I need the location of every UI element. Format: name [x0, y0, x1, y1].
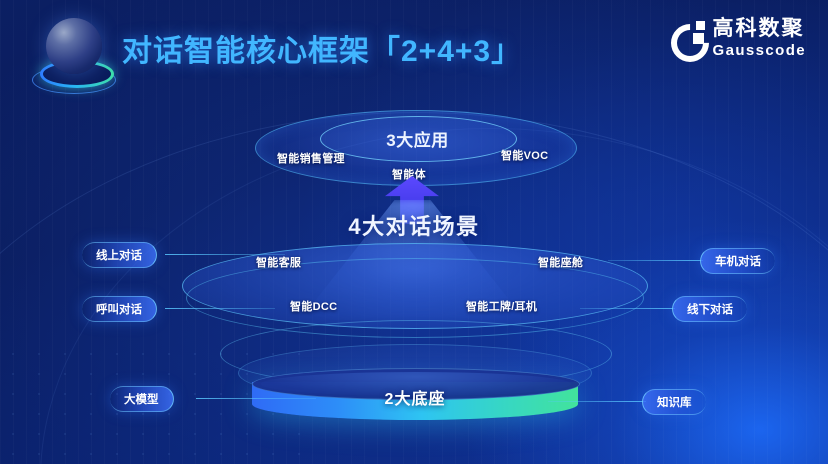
orb-ball-icon [46, 18, 102, 74]
gausscode-mark-icon [671, 21, 705, 55]
connector-online-dialog [165, 254, 285, 255]
foundation-cylinder: 2大底座 [252, 368, 578, 434]
pill-offline-dialog[interactable]: 线下对话 [672, 296, 747, 322]
brand-logo: 高科数聚 Gausscode [671, 18, 806, 58]
scenario-label-customer-service: 智能客服 [256, 254, 301, 270]
slide-canvas: 对话智能核心框架「2+4+3」 高科数聚 Gausscode 3大应用 智能销售… [0, 0, 828, 464]
brand-name-en: Gausscode [713, 43, 806, 58]
connector-large-model [196, 398, 316, 399]
pill-call-dialog[interactable]: 呼叫对话 [82, 296, 157, 322]
brand-name-cn: 高科数聚 [713, 18, 806, 39]
page-title: 对话智能核心框架「2+4+3」 [122, 26, 522, 70]
slide-header: 对话智能核心框架「2+4+3」 高科数聚 Gausscode [0, 0, 828, 100]
pill-knowledge-base[interactable]: 知识库 [642, 389, 706, 415]
pill-vehicle-dialog[interactable]: 车机对话 [700, 248, 775, 274]
pill-online-dialog[interactable]: 线上对话 [82, 242, 157, 268]
scenario-label-badge-headset: 智能工牌/耳机 [466, 298, 537, 314]
foundation-title: 2大底座 [252, 382, 578, 412]
applications-title: 3大应用 [320, 118, 515, 158]
application-label-voc: 智能VOC [501, 147, 548, 163]
application-label-sales: 智能销售管理 [277, 150, 345, 166]
scenario-label-dcc: 智能DCC [290, 298, 337, 314]
scenario-label-cockpit: 智能座舱 [538, 254, 583, 270]
connector-offline-dialog [580, 308, 675, 309]
connector-knowledge-base [548, 401, 646, 402]
scenarios-title: 4大对话场景 [0, 209, 828, 241]
connector-vehicle-dialog [608, 260, 703, 261]
sphere-icon [30, 16, 114, 100]
pill-large-model[interactable]: 大模型 [110, 386, 174, 412]
connector-call-dialog [165, 308, 275, 309]
